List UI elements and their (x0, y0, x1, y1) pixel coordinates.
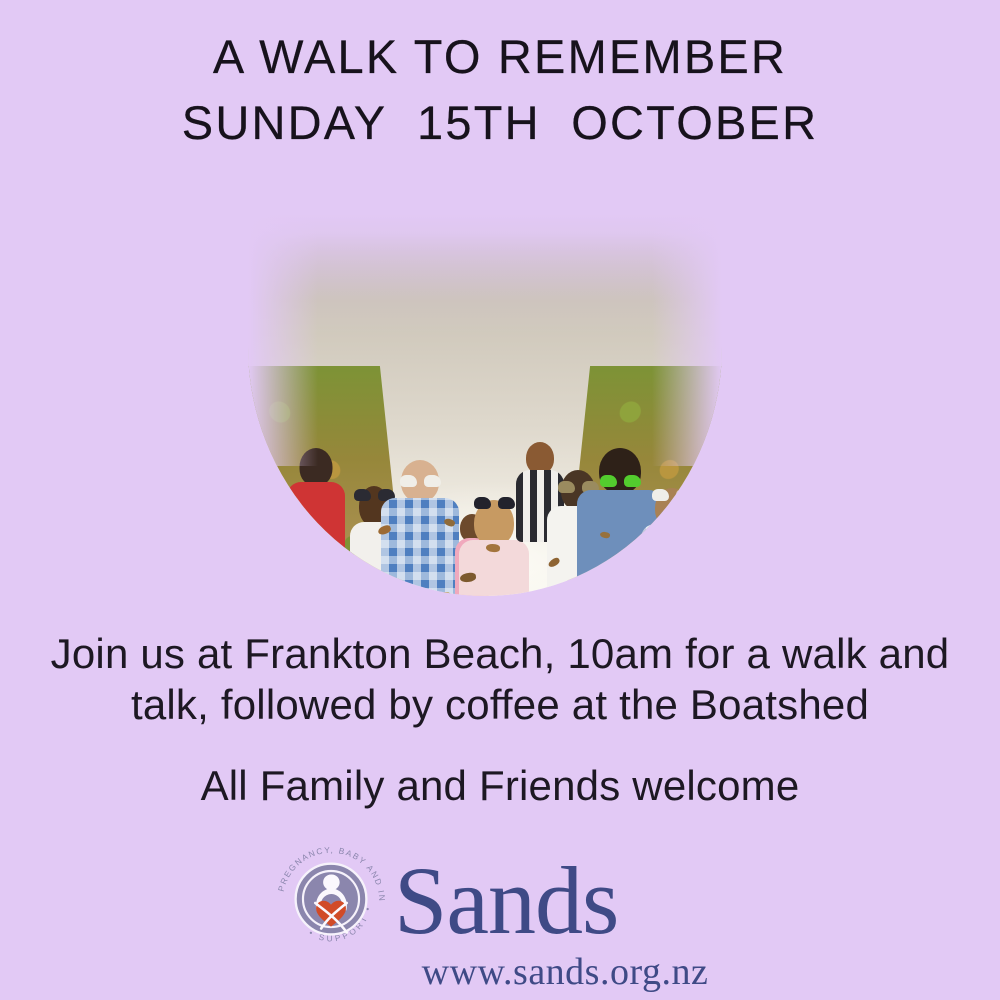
sands-logo-row: PREGNANCY, BABY AND INFANT LOSS • SUPPOR… (272, 842, 618, 960)
sands-emblem-icon: PREGNANCY, BABY AND INFANT LOSS • SUPPOR… (272, 842, 390, 960)
body-line-3: All Family and Friends welcome (0, 760, 1000, 811)
sands-url: www.sands.org.nz (0, 950, 1000, 994)
body-line-2: talk, followed by coffee at the Boatshed (0, 679, 1000, 730)
group-walking-photo (248, 214, 722, 596)
headline-block: A WALK TO REMEMBER SUNDAY 15TH OCTOBER (0, 24, 1000, 156)
body-copy-block: Join us at Frankton Beach, 10am for a wa… (0, 628, 1000, 811)
headline-line-2: SUNDAY 15TH OCTOBER (0, 90, 1000, 156)
headline-line-1: A WALK TO REMEMBER (0, 24, 1000, 90)
photo-scene (248, 214, 722, 596)
photo-clip (248, 214, 722, 596)
poster-canvas: A WALK TO REMEMBER SUNDAY 15TH OCTOBER (0, 0, 1000, 1000)
sands-wordmark: Sands (394, 853, 618, 949)
body-line-1: Join us at Frankton Beach, 10am for a wa… (0, 628, 1000, 679)
sands-logo: PREGNANCY, BABY AND INFANT LOSS • SUPPOR… (0, 840, 1000, 1000)
body-spacer (0, 730, 1000, 760)
